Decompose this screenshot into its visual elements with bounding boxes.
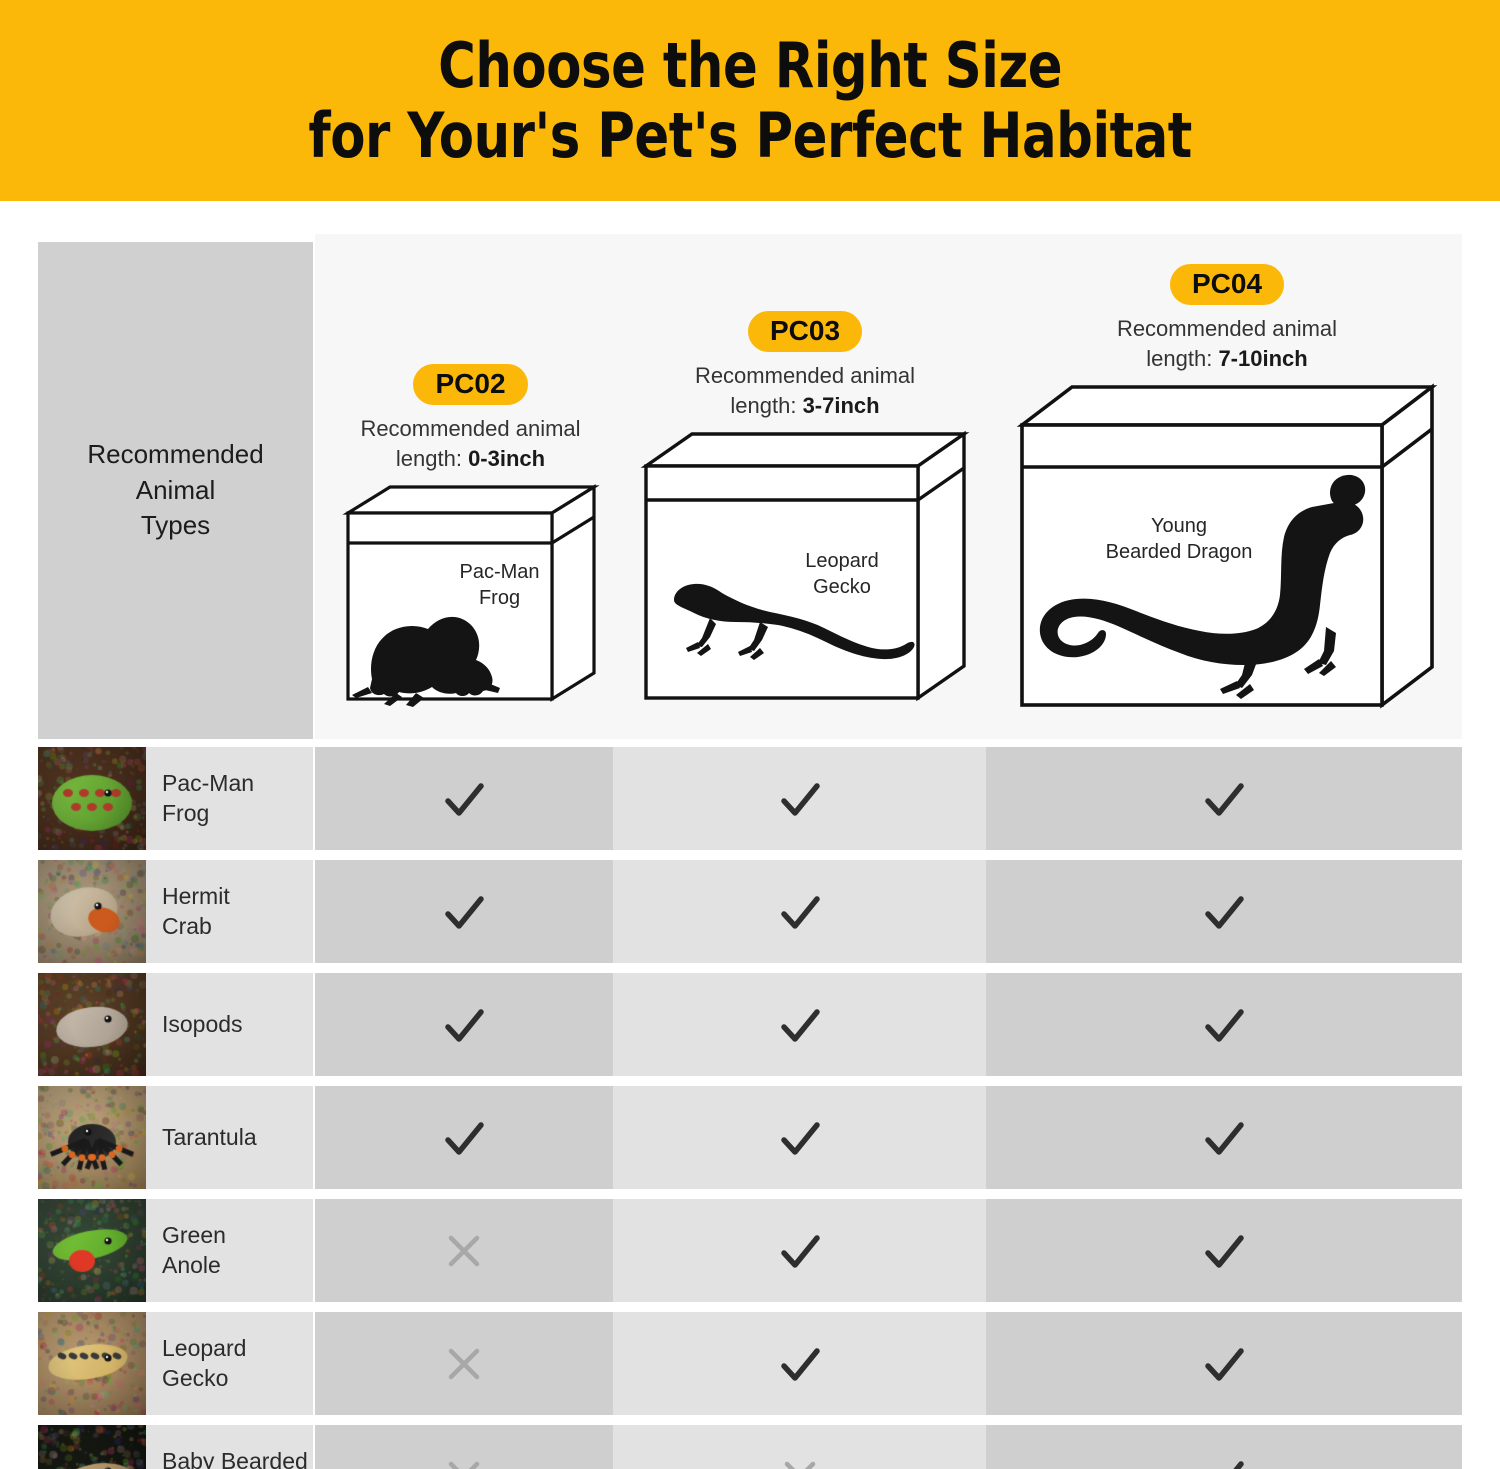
rec-label-pc03: length:	[730, 393, 802, 418]
table-row: Green Anole	[0, 1199, 1500, 1302]
compat-cell-pc02	[315, 860, 613, 963]
check-icon	[1197, 1111, 1251, 1165]
table-row: Tarantula	[0, 1086, 1500, 1189]
animal-name-label: Green Anole	[146, 1221, 226, 1281]
rec-value-pc04: 7-10inch	[1218, 346, 1307, 371]
header-banner: Choose the Right Size for Your's Pet's P…	[0, 0, 1500, 201]
animal-thumbnail	[38, 973, 146, 1076]
check-icon	[437, 885, 491, 939]
compat-cell-pc02	[315, 1425, 613, 1469]
table-row: Baby Bearded Dragon	[0, 1425, 1500, 1469]
check-icon	[1197, 772, 1251, 826]
compat-cell-pc04	[986, 1086, 1462, 1189]
cross-icon	[773, 1450, 827, 1469]
terrarium-illustration-pc04	[1016, 383, 1438, 723]
product-recommendation-pc03: Recommended animal length: 3-7inch	[695, 361, 915, 420]
animal-name-cell: Hermit Crab	[146, 860, 313, 963]
cross-icon	[437, 1337, 491, 1391]
rec-label-pc04: length:	[1146, 346, 1218, 371]
animal-name-label: Tarantula	[146, 1123, 257, 1153]
compat-cell-pc02	[315, 973, 613, 1076]
terrarium-illustration-pc03	[640, 430, 970, 715]
compat-cell-pc04	[986, 747, 1462, 850]
compat-cell-pc02	[315, 1199, 613, 1302]
animal-thumbnail	[38, 1312, 146, 1415]
table-row: Pac-Man Frog	[0, 747, 1500, 850]
product-pc02[interactable]: PC02 Recommended animal length: 0-3inch	[333, 364, 608, 715]
animal-name-label: Leopard Gecko	[146, 1334, 246, 1394]
table-row: Leopard Gecko	[0, 1312, 1500, 1415]
rec-prefix-pc02: Recommended animal	[360, 416, 580, 441]
product-badge-pc04: PC04	[1170, 264, 1284, 305]
animal-name-cell: Isopods	[146, 973, 313, 1076]
animal-thumbnail	[38, 1086, 146, 1189]
animal-name-label: Pac-Man Frog	[146, 769, 254, 829]
animal-name-label: Hermit Crab	[146, 882, 230, 942]
animal-name-cell: Green Anole	[146, 1199, 313, 1302]
compat-cell-pc03	[613, 1312, 986, 1415]
banner-title-line-1: Choose the Right Size	[438, 31, 1062, 100]
table-header-animal-types: Recommended Animal Types	[38, 242, 313, 739]
compat-cell-pc02	[315, 1312, 613, 1415]
compat-cell-pc04	[986, 1312, 1462, 1415]
rec-label-pc02: length:	[396, 446, 468, 471]
check-icon	[1197, 1337, 1251, 1391]
terrarium-illustration-pc02	[342, 483, 600, 715]
animal-name-cell: Leopard Gecko	[146, 1312, 313, 1415]
compat-cell-pc03	[613, 860, 986, 963]
compat-cell-pc03	[613, 973, 986, 1076]
check-icon	[1197, 885, 1251, 939]
animal-name-label: Baby Bearded Dragon	[146, 1447, 308, 1469]
check-icon	[773, 885, 827, 939]
check-icon	[437, 1111, 491, 1165]
compat-cell-pc04	[986, 973, 1462, 1076]
rec-prefix-pc04: Recommended animal	[1117, 316, 1337, 341]
check-icon	[773, 1224, 827, 1278]
rec-prefix-pc03: Recommended animal	[695, 363, 915, 388]
terrarium-box-pc02: Pac-Man Frog	[342, 483, 600, 715]
product-pc04[interactable]: PC04 Recommended animal length: 7-10inch	[1003, 264, 1451, 723]
cross-icon	[437, 1450, 491, 1469]
animal-name-cell: Baby Bearded Dragon	[146, 1425, 313, 1469]
product-pc03[interactable]: PC03 Recommended animal length: 3-7inch	[630, 311, 980, 715]
compat-cell-pc04	[986, 1425, 1462, 1469]
check-icon	[437, 998, 491, 1052]
comparison-table: Pac-Man FrogHermit CrabIsopodsTarantulaG…	[0, 747, 1500, 1469]
compat-cell-pc04	[986, 860, 1462, 963]
compat-cell-pc03	[613, 1425, 986, 1469]
terrarium-box-pc04: Young Bearded Dragon	[1016, 383, 1438, 723]
table-row: Isopods	[0, 973, 1500, 1076]
check-icon	[437, 772, 491, 826]
check-icon	[773, 1337, 827, 1391]
product-badge-pc02: PC02	[413, 364, 527, 405]
terrarium-box-pc03: Leopard Gecko	[640, 430, 970, 715]
compat-cell-pc02	[315, 1086, 613, 1189]
rec-value-pc03: 3-7inch	[803, 393, 880, 418]
animal-thumbnail	[38, 747, 146, 850]
rec-value-pc02: 0-3inch	[468, 446, 545, 471]
animal-thumbnail	[38, 1199, 146, 1302]
animal-name-label: Isopods	[146, 1010, 243, 1040]
check-icon	[1197, 1450, 1251, 1469]
table-row: Hermit Crab	[0, 860, 1500, 963]
product-recommendation-pc04: Recommended animal length: 7-10inch	[1117, 314, 1337, 373]
check-icon	[1197, 998, 1251, 1052]
banner-title-line-2: for Your's Pet's Perfect Habitat	[308, 101, 1191, 170]
compat-cell-pc03	[613, 1199, 986, 1302]
animal-name-cell: Tarantula	[146, 1086, 313, 1189]
cross-icon	[437, 1224, 491, 1278]
product-badge-pc03: PC03	[748, 311, 862, 352]
check-icon	[773, 772, 827, 826]
product-recommendation-pc02: Recommended animal length: 0-3inch	[360, 414, 580, 473]
animal-thumbnail	[38, 1425, 146, 1469]
compat-cell-pc04	[986, 1199, 1462, 1302]
check-icon	[773, 1111, 827, 1165]
compat-cell-pc03	[613, 747, 986, 850]
animal-name-cell: Pac-Man Frog	[146, 747, 313, 850]
compat-cell-pc02	[315, 747, 613, 850]
check-icon	[773, 998, 827, 1052]
compat-cell-pc03	[613, 1086, 986, 1189]
table-header-label: Recommended Animal Types	[87, 437, 263, 545]
check-icon	[1197, 1224, 1251, 1278]
animal-thumbnail	[38, 860, 146, 963]
